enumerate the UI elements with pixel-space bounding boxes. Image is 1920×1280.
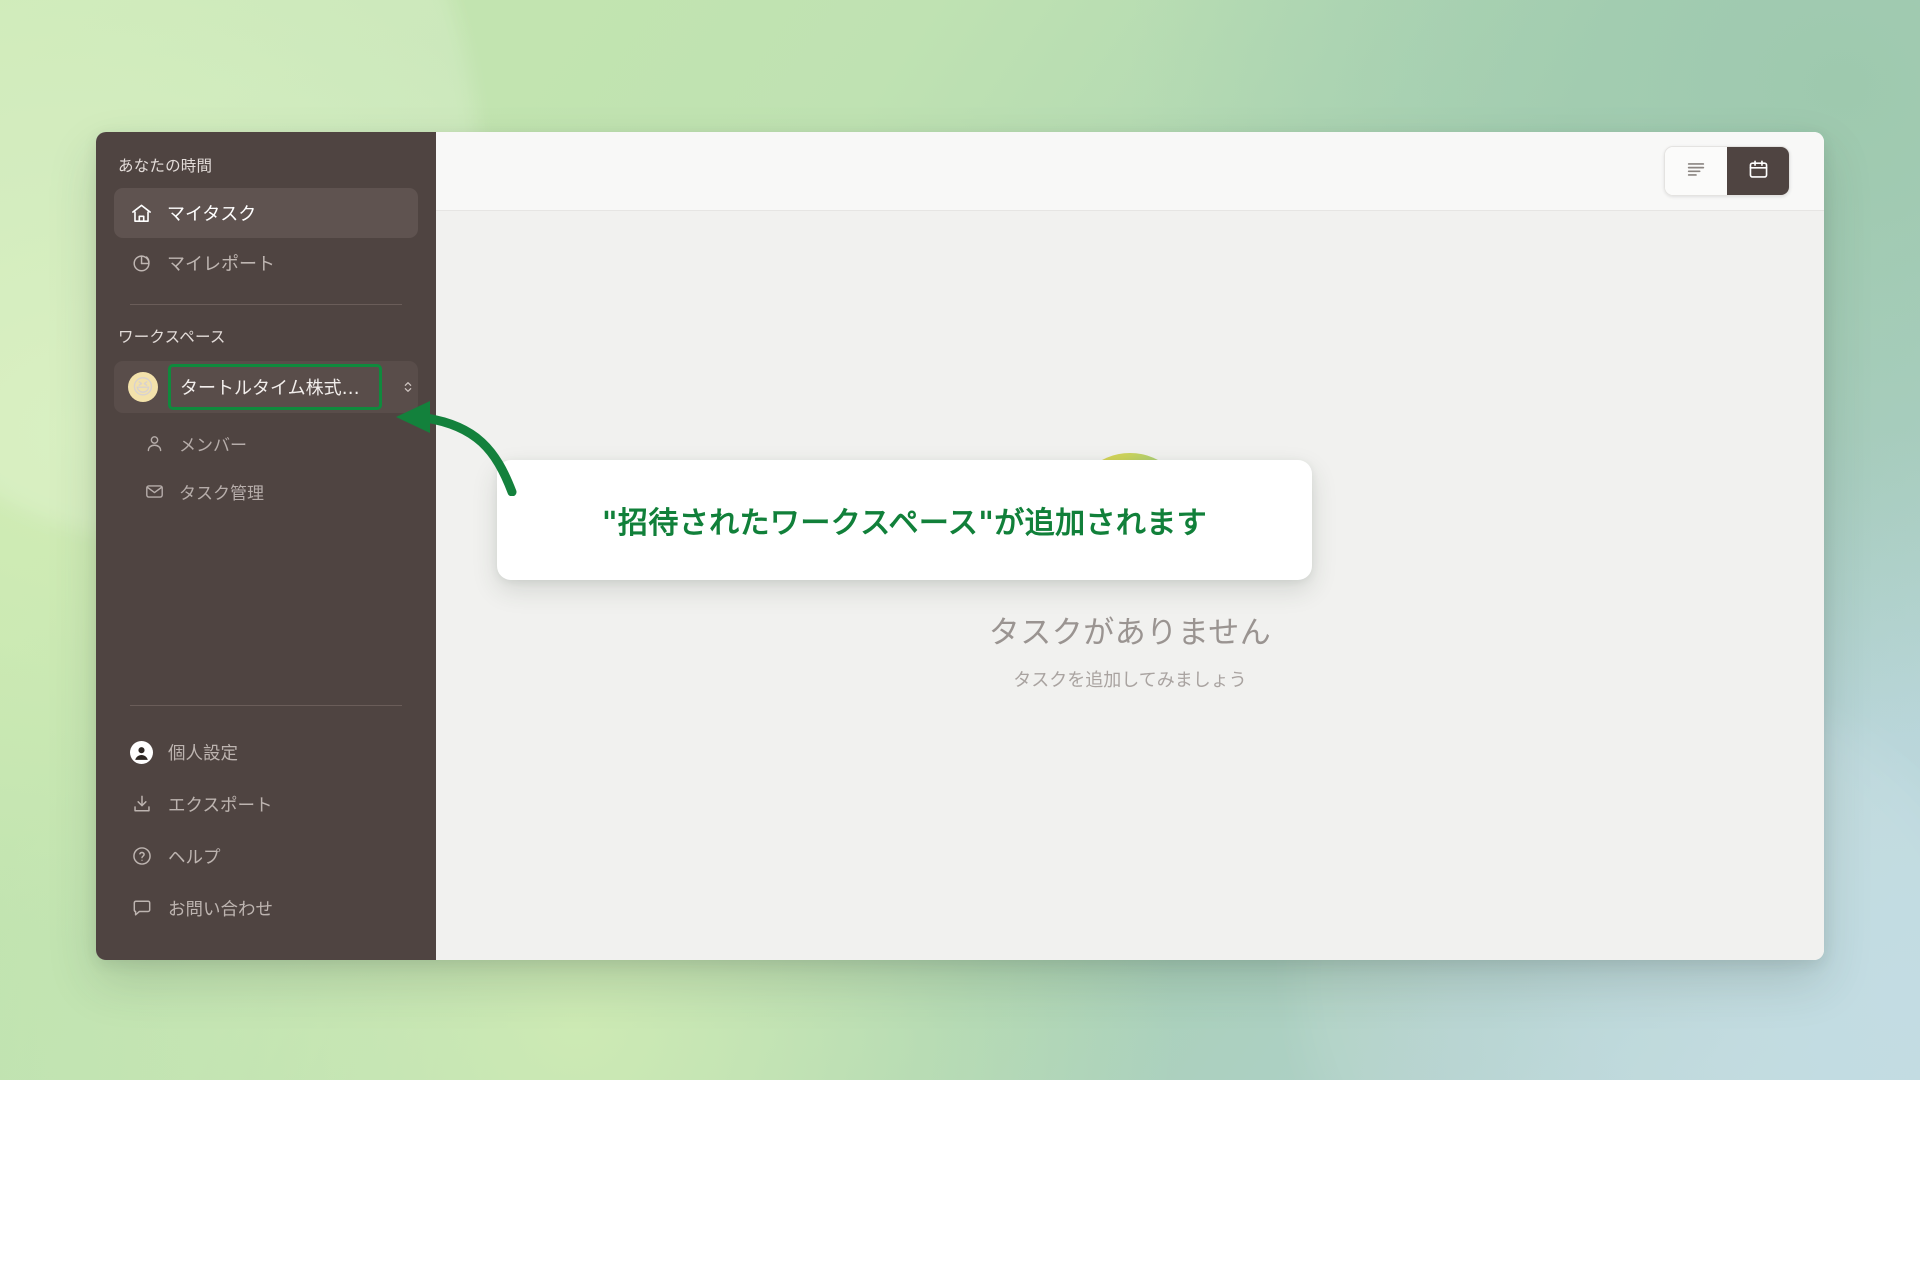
sidebar-divider-bottom xyxy=(130,705,402,706)
workspace-emoji-avatar: 😆 xyxy=(128,372,158,402)
annotation-callout-text: "招待されたワークスペース"が追加されます xyxy=(602,498,1207,542)
chevron-expand-icon[interactable] xyxy=(400,379,416,395)
sidebar-item-label: タスク管理 xyxy=(179,479,264,504)
sidebar-item-task-management[interactable]: タスク管理 xyxy=(114,467,418,515)
account-avatar-icon xyxy=(130,741,153,764)
content-area: タスクがありません タスクを追加してみましょう xyxy=(436,211,1824,960)
workspace-sub-list: メンバー タスク管理 xyxy=(96,413,436,515)
question-circle-icon xyxy=(130,845,153,868)
empty-state-subtitle: タスクを追加してみましょう xyxy=(1013,666,1246,692)
annotation-callout: "招待されたワークスペース"が追加されます xyxy=(497,460,1312,580)
sidebar-item-label: メンバー xyxy=(179,431,247,456)
workspace-name-label: タートルタイム株式会... xyxy=(180,374,373,400)
list-lines-icon xyxy=(1685,158,1707,184)
download-icon xyxy=(130,793,153,816)
sidebar-item-my-reports[interactable]: マイレポート xyxy=(114,238,418,288)
sidebar-item-contact[interactable]: お問い合わせ xyxy=(114,882,418,934)
top-toolbar xyxy=(436,132,1824,211)
sidebar-bottom-list: 個人設定 エクスポート ヘルプ xyxy=(96,722,436,960)
sidebar: あなたの時間 マイタスク マイレポート xyxy=(96,132,436,960)
sidebar-item-label: マイレポート xyxy=(167,250,275,276)
empty-state-title: タスクがありません xyxy=(989,607,1272,652)
sidebar-item-label: ヘルプ xyxy=(168,844,221,869)
chat-bubble-icon xyxy=(130,897,153,920)
sidebar-divider-top xyxy=(130,304,402,305)
sidebar-section-workspace-label: ワークスペース xyxy=(96,325,436,347)
view-toggle-group xyxy=(1664,146,1790,196)
sidebar-item-label: マイタスク xyxy=(167,200,256,226)
sidebar-nav-list: マイタスク マイレポート xyxy=(96,188,436,288)
sidebar-item-label: エクスポート xyxy=(168,792,272,817)
sidebar-item-export[interactable]: エクスポート xyxy=(114,778,418,830)
calendar-icon xyxy=(1747,158,1770,185)
home-icon xyxy=(130,202,153,225)
pie-chart-icon xyxy=(130,252,153,275)
sidebar-item-help[interactable]: ヘルプ xyxy=(114,830,418,882)
inbox-icon xyxy=(144,481,165,502)
user-icon xyxy=(144,433,165,454)
sidebar-spacer xyxy=(96,515,436,689)
list-view-button[interactable] xyxy=(1665,147,1727,195)
sidebar-item-label: お問い合わせ xyxy=(168,896,273,921)
sidebar-item-label: 個人設定 xyxy=(168,740,238,765)
sidebar-item-my-tasks[interactable]: マイタスク xyxy=(114,188,418,238)
sidebar-workspace-row[interactable]: 😆 タートルタイム株式会... xyxy=(114,361,418,413)
sidebar-section-personal-label: あなたの時間 xyxy=(96,154,436,176)
sidebar-item-personal-settings[interactable]: 個人設定 xyxy=(114,726,418,778)
sidebar-item-members[interactable]: メンバー xyxy=(114,419,418,467)
workspace-name-highlight[interactable]: タートルタイム株式会... xyxy=(168,364,382,410)
calendar-view-button[interactable] xyxy=(1727,147,1789,195)
